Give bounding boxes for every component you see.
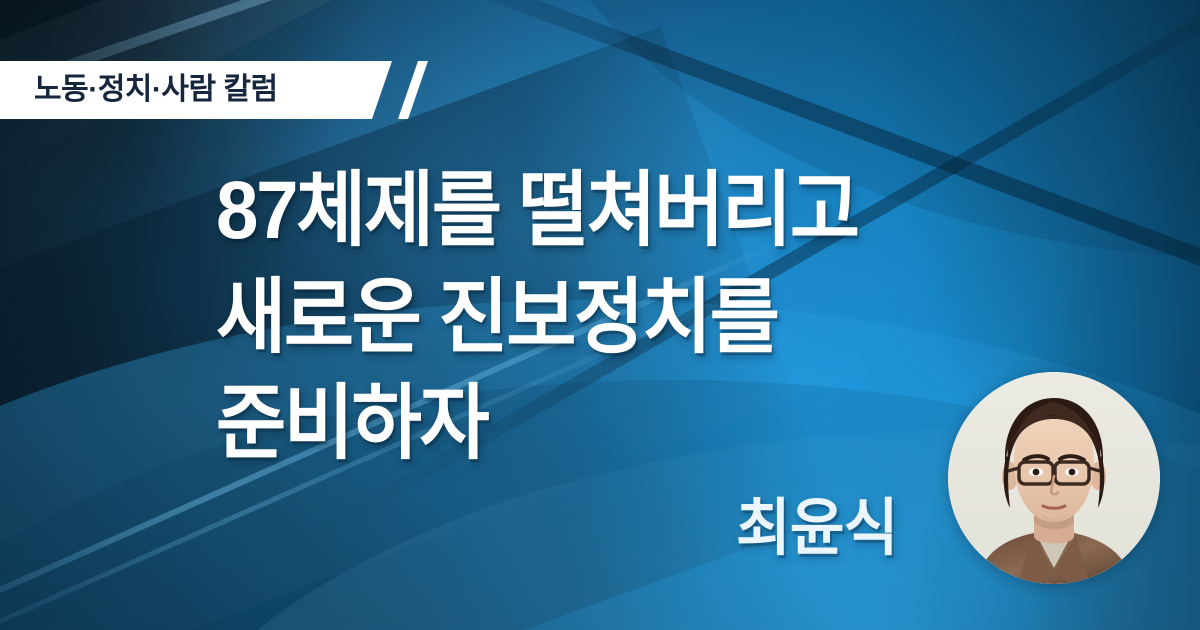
column-kicker-label: 노동·정치·사람 칼럼 (34, 75, 278, 105)
headline-line-1: 87체제를 떨쳐버리고 (216, 158, 960, 265)
headline: 87체제를 떨쳐버리고 새로운 진보정치를 준비하자 (216, 158, 1016, 478)
headline-line-3: 준비하자 (216, 371, 960, 478)
kicker-slash-accent-icon (398, 61, 428, 119)
author-name: 최윤식 (736, 498, 897, 560)
column-kicker-bar: 노동·정치·사람 칼럼 (0, 61, 392, 119)
author-portrait-image (948, 372, 1160, 584)
author-portrait-avatar (948, 372, 1160, 584)
column-card-banner: 노동·정치·사람 칼럼 87체제를 떨쳐버리고 새로운 진보정치를 준비하자 최… (0, 0, 1200, 630)
headline-line-2: 새로운 진보정치를 (216, 265, 960, 372)
